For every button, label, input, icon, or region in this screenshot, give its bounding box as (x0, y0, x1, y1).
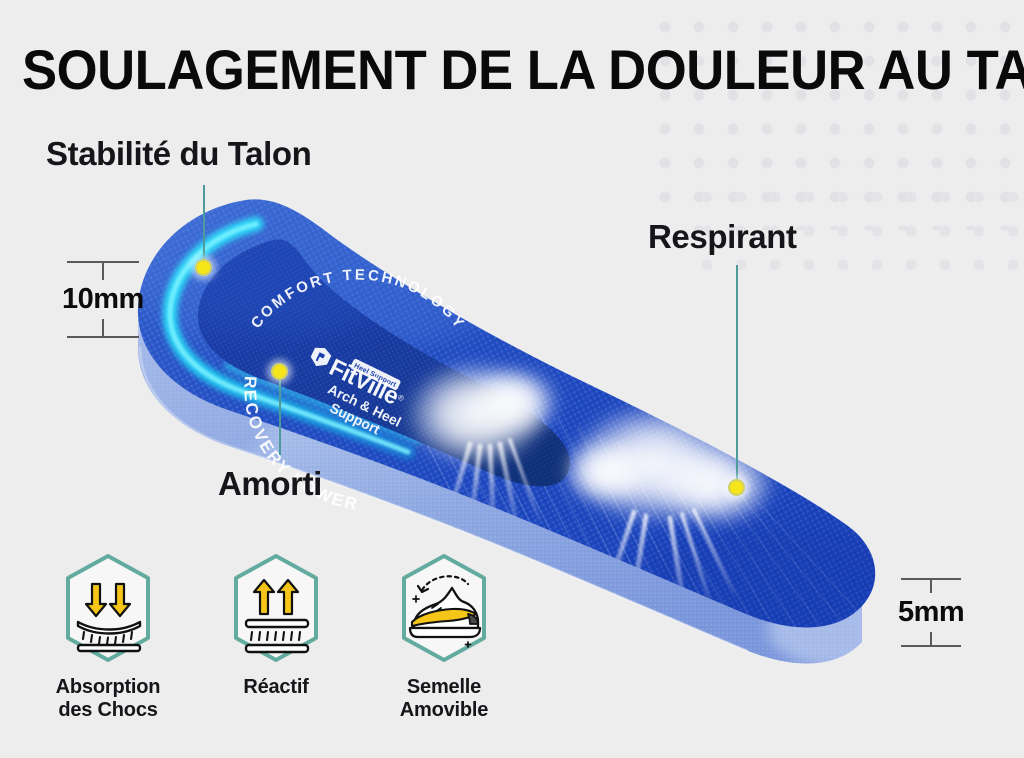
dimension-stem-top (930, 580, 932, 593)
svg-text:Heel Support: Heel Support (353, 363, 398, 390)
shock-absorption-icon (56, 552, 160, 664)
dimension-cap-bottom (901, 645, 961, 647)
feature-item-responsive: Réactif (192, 552, 360, 699)
callout-label-heel-stability: Stabilité du Talon (46, 135, 311, 173)
dimension-heel-thickness: 10mm (62, 261, 144, 338)
feature-item-shock-absorption: Absorption des Chocs (24, 552, 192, 722)
feature-item-removable-insole: Semelle Amovible (360, 552, 528, 722)
dimension-cap-bottom (67, 336, 139, 338)
callout-leader-breathable (736, 265, 738, 487)
svg-text:Support: Support (327, 399, 383, 437)
feature-list: Absorption des Chocs (24, 552, 544, 752)
svg-text:®: ® (396, 393, 405, 404)
feature-label-removable-insole: Semelle Amovible (400, 676, 488, 722)
svg-text:Arch & Heel: Arch & Heel (325, 381, 403, 430)
svg-text:COMFORT TECHNOLOGY: COMFORT TECHNOLOGY (246, 263, 469, 341)
responsive-icon (224, 552, 328, 664)
removable-insole-icon (392, 552, 496, 664)
dimension-stem-top (102, 263, 104, 280)
page-title: SOULAGEMENT DE LA DOULEUR AU TALON (22, 40, 953, 100)
callout-label-breathable: Respirant (648, 218, 797, 256)
dimension-toe-thickness: 5mm (898, 578, 964, 647)
feature-label-responsive: Réactif (243, 676, 308, 699)
callout-leader-heel-stability (203, 185, 205, 267)
callout-marker-breathable (728, 479, 745, 496)
dimension-value: 10mm (62, 280, 144, 319)
feature-label-shock-absorption: Absorption des Chocs (56, 676, 161, 722)
dimension-value: 5mm (898, 593, 964, 632)
background-dot-pattern (640, 0, 1024, 230)
svg-text:FitVille: FitVille (325, 354, 403, 411)
callout-marker-heel-stability (195, 259, 212, 276)
dimension-stem-bottom (930, 632, 932, 645)
callout-label-cushioning: Amorti (218, 465, 322, 503)
callout-marker-cushioning (271, 363, 288, 380)
callout-leader-cushioning (279, 380, 281, 455)
dimension-stem-bottom (102, 319, 104, 336)
